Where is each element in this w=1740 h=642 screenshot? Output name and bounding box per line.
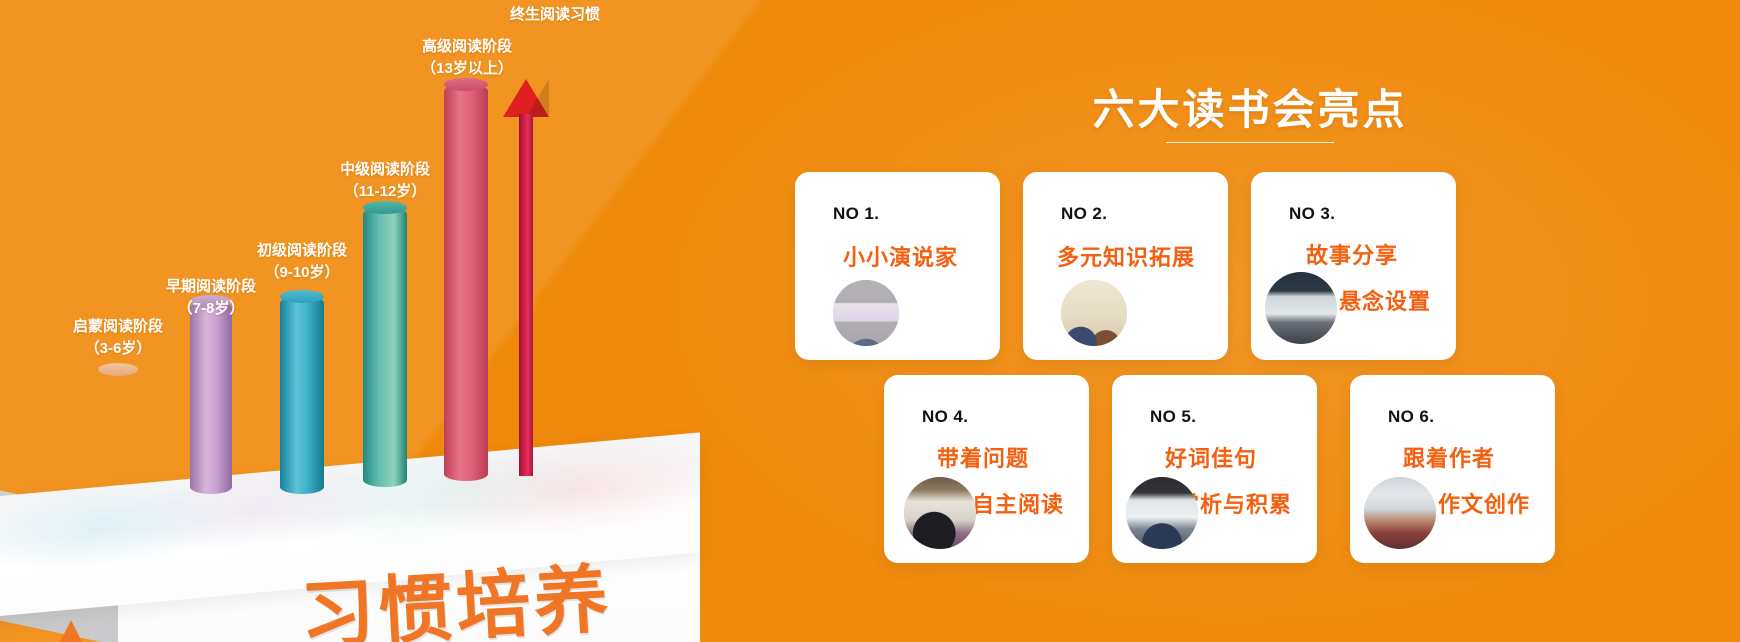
stage-3-name: 初级阅读阶段 [257,242,347,259]
card-3-photo [1265,272,1337,344]
title-divider [1166,142,1334,143]
card-1-photo [833,280,899,346]
card-1-title: 小小演说家 [843,240,958,272]
bar-stage-5 [444,84,488,481]
highlight-card-2[interactable]: NO 2. 多元知识拓展 [1023,172,1228,360]
chart-label-lifelong: 终生阅读习惯 [460,4,650,26]
highlight-card-4[interactable]: NO 4. 带着问题 自主阅读 [884,375,1089,563]
card-2-number: NO 2. [1061,204,1107,224]
card-4-title: 带着问题 [937,441,1029,473]
card-5-title: 好词佳句 [1165,441,1257,473]
reading-stage-bar-chart: 终生阅读习惯 高级阅读阶段 （13岁以上） 中级阅读阶段 （11-12岁） 初级… [0,0,760,642]
card-3-subtitle: 悬念设置 [1339,284,1431,316]
stage-1-name: 启蒙阅读阶段 [73,318,163,335]
stage-5-age: （13岁以上） [421,60,513,77]
highlight-card-5[interactable]: NO 5. 好词佳句 赏析与积累 [1112,375,1317,563]
pedestal-headline: 习惯培养 [297,539,614,642]
stage-5-name: 高级阅读阶段 [422,38,512,55]
card-3-title: 故事分享 [1306,238,1398,270]
card-6-title: 跟着作者 [1403,441,1495,473]
stage-2-age: （7-8岁） [178,300,245,317]
poster-canvas: 终生阅读习惯 高级阅读阶段 （13岁以上） 中级阅读阶段 （11-12岁） 初级… [0,0,1740,642]
chart-label-stage-1: 启蒙阅读阶段 （3-6岁） [23,316,213,360]
corner-triangle-icon [60,620,82,642]
stage-4-age: （11-12岁） [344,183,427,200]
highlights-section-title: 六大读书会亮点 [760,76,1740,137]
chart-label-stage-5: 高级阅读阶段 （13岁以上） [372,36,562,80]
growth-arrow-shaft [519,114,533,476]
card-5-number: NO 5. [1150,407,1196,427]
card-4-subtitle: 自主阅读 [972,487,1064,519]
chart-label-stage-4: 中级阅读阶段 （11-12岁） [290,159,480,203]
card-5-photo [1126,477,1198,549]
stage-2-name: 早期阅读阶段 [166,278,256,295]
bar-stage-3 [280,296,324,494]
highlight-card-3[interactable]: NO 3. 故事分享 悬念设置 [1251,172,1456,360]
card-3-number: NO 3. [1289,204,1335,224]
stage-4-name: 中级阅读阶段 [340,161,430,178]
bar-stage-1 [98,369,138,494]
chart-label-stage-2: 早期阅读阶段 （7-8岁） [116,276,306,320]
stage-1-age: （3-6岁） [85,340,152,357]
card-6-subtitle: 作文创作 [1438,487,1530,519]
highlights-panel: 六大读书会亮点 NO 1. 小小演说家 NO 2. 多元知识拓展 NO 3. 故… [760,0,1740,642]
card-4-photo [904,477,976,549]
highlight-card-1[interactable]: NO 1. 小小演说家 [795,172,1000,360]
card-2-title: 多元知识拓展 [1057,240,1195,272]
card-4-number: NO 4. [922,407,968,427]
growth-arrow-head-shadow [526,79,549,117]
highlight-card-6[interactable]: NO 6. 跟着作者 作文创作 [1350,375,1555,563]
card-1-number: NO 1. [833,204,879,224]
card-6-photo [1364,477,1436,549]
card-6-number: NO 6. [1388,407,1434,427]
card-2-photo [1061,280,1127,346]
